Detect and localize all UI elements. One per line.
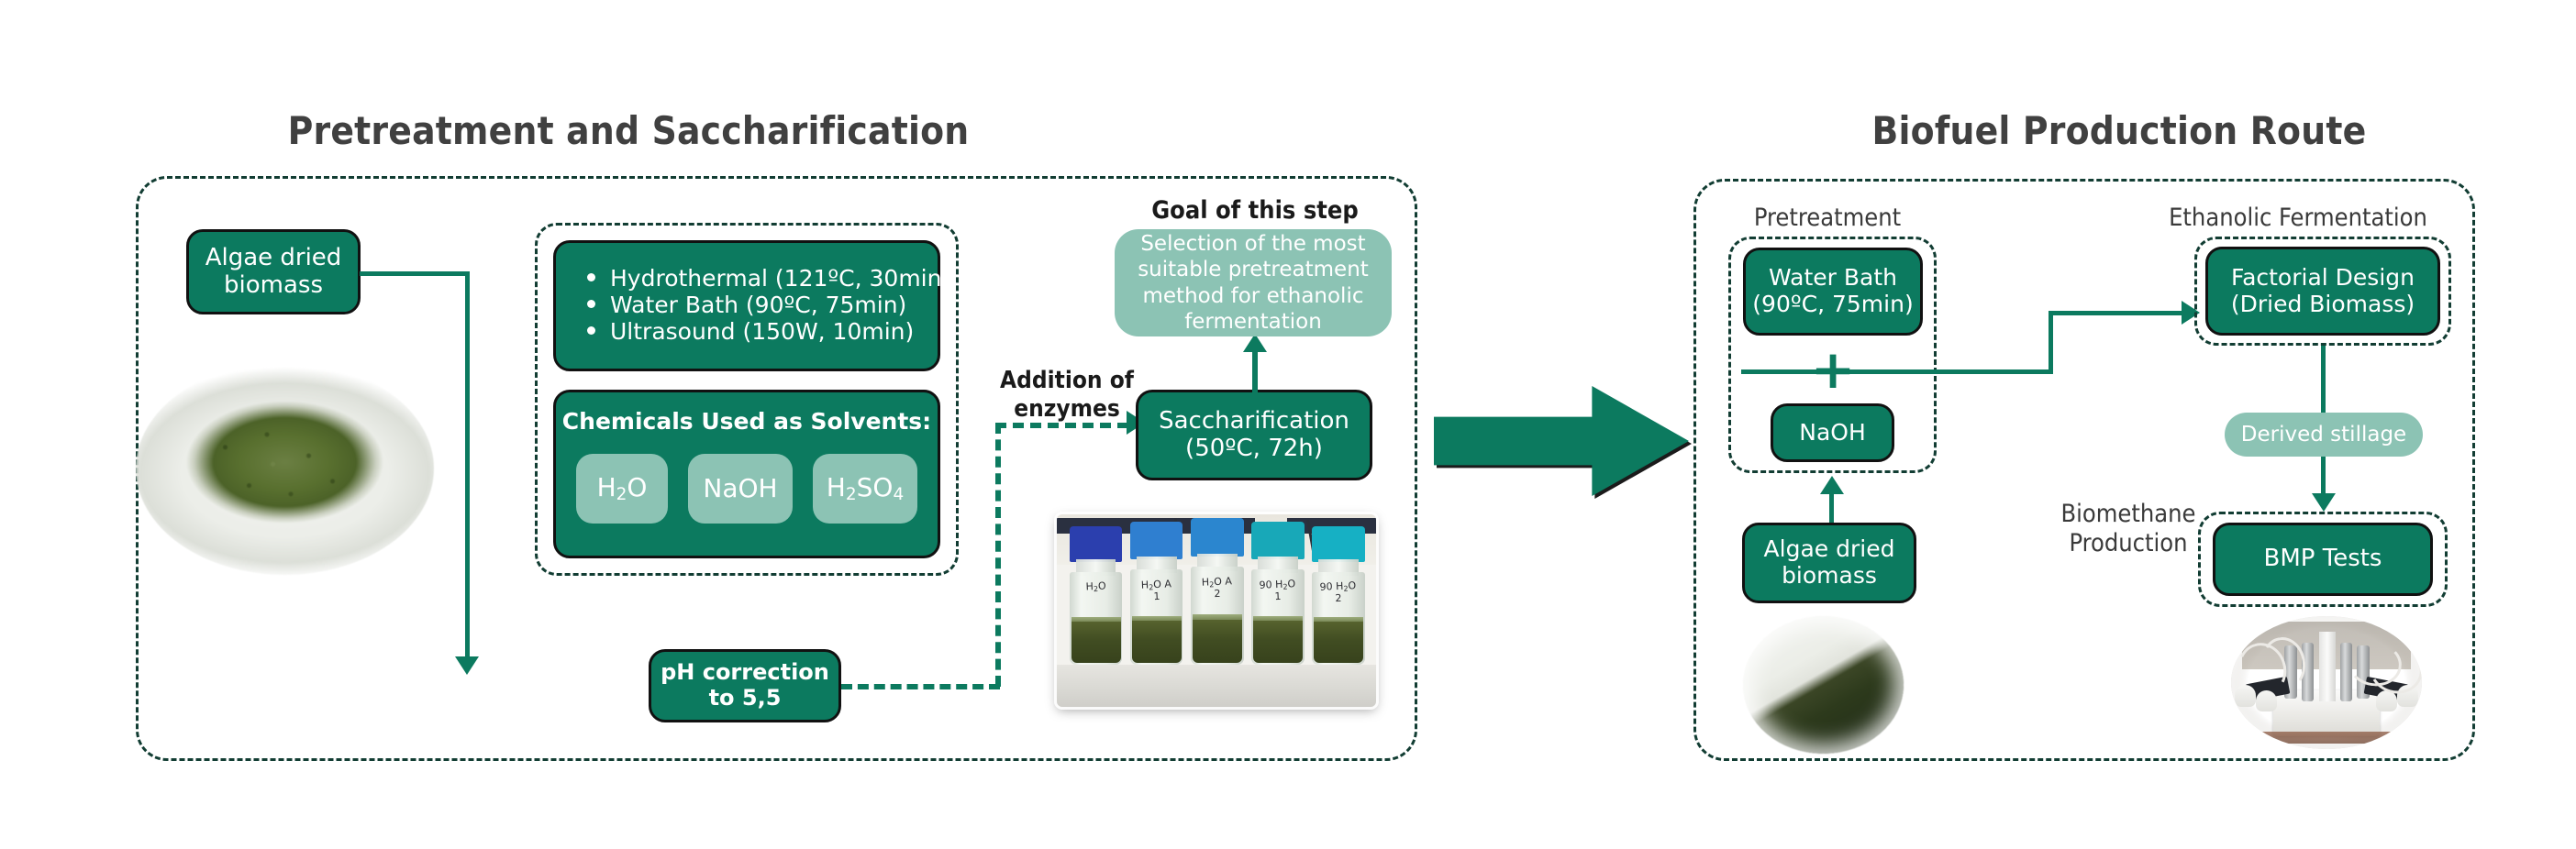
ph-to-saccharification-dashed-horizontal: [841, 684, 1000, 689]
algae-biomass-label-line1: Algae dried: [205, 244, 342, 271]
bottle-handwritten-label: H2O A1: [1130, 578, 1183, 602]
stillage-to-bmp-arrowhead: [2312, 493, 2336, 512]
saccharification-to-goal-arrowhead: [1243, 334, 1267, 352]
pretreatment-to-fermentation-vertical: [2049, 311, 2053, 374]
ph-correction-line2: to 5,5: [709, 685, 782, 711]
solvent-pill-naoh[interactable]: NaOH: [688, 454, 793, 524]
bmp-tests-box[interactable]: BMP Tests: [2213, 523, 2433, 596]
left-panel-title: Pretreatment and Saccharification: [275, 108, 982, 153]
enzymes-label-line1: Addition of: [1000, 367, 1134, 394]
bottle-liquid: [1132, 621, 1182, 663]
pretreatment-method-label: Hydrothermal (121ºC, 30min): [610, 266, 950, 292]
right-biomass-line1: Algae dried: [1764, 535, 1895, 562]
solvent-label: H2O: [597, 473, 648, 504]
solvent-pill-h2so4[interactable]: H2SO4: [813, 454, 917, 524]
bottle-liquid-surface: [1253, 616, 1303, 621]
naoh-box[interactable]: NaOH: [1771, 403, 1894, 462]
bmp-collection-jar: [2376, 690, 2397, 711]
bottle-handwritten-label: H2O: [1070, 580, 1123, 595]
bottle-handwritten-label: 90 H2O1: [1251, 578, 1305, 602]
saccharification-line1: Saccharification: [1159, 407, 1349, 435]
bottle-cap: [1312, 526, 1364, 562]
biomethane-line1: Biomethane: [2060, 500, 2195, 528]
bullet-icon: [587, 273, 595, 281]
ph-to-saccharification-dashed-vertical: [995, 423, 1001, 687]
factorial-design-box[interactable]: Factorial Design (Dried Biomass): [2205, 247, 2440, 336]
right-panel-title: Biofuel Production Route: [1789, 108, 2449, 153]
pretreatment-to-fermentation-lower-horizontal: [1741, 369, 1915, 374]
solvent-label: H2SO4: [827, 473, 904, 504]
ph-correction-line1: pH correction: [661, 659, 829, 685]
bottle-liquid: [1253, 621, 1303, 663]
bmp-center-stand: [2319, 632, 2337, 700]
bottle-cap: [1191, 518, 1243, 556]
bottle-liquid: [1071, 622, 1121, 663]
enzymes-label-line2: enzymes: [1014, 395, 1120, 423]
pretreatment-method-row: Hydrothermal (121ºC, 30min): [587, 266, 950, 292]
solvent-pill-h2o[interactable]: H2O: [576, 454, 668, 524]
biomass-to-naoh-arrowhead: [1820, 476, 1844, 494]
pretreatment-method-label: Ultrasound (150W, 10min): [610, 319, 914, 346]
water-bath-line2: (90ºC, 75min): [1752, 291, 1913, 317]
bullet-icon: [587, 300, 595, 308]
bottle-liquid: [1314, 622, 1363, 663]
bottle-cap: [1070, 526, 1122, 562]
algae-biomass-label-line2: biomass: [224, 271, 323, 299]
bottle-cap: [1130, 522, 1183, 558]
right-biomass-line2: biomass: [1782, 562, 1877, 589]
bottle-liquid: [1193, 620, 1242, 663]
goal-text: Selection of the most suitable pretreatm…: [1131, 231, 1375, 334]
right-pretreatment-heading: Pretreatment: [1717, 204, 1938, 233]
bullet-icon: [587, 326, 595, 335]
derived-stillage-label: Derived stillage: [2241, 422, 2406, 447]
bottle-liquid-surface: [1314, 617, 1363, 622]
ph-correction-box[interactable]: pH correction to 5,5: [649, 649, 841, 722]
bottle-cap: [1251, 522, 1304, 558]
solvent-label: NaOH: [703, 474, 777, 503]
bottle-5: 90 H2O2: [1312, 526, 1364, 665]
naoh-algae-mixture-photo: [1743, 616, 1904, 754]
bmp-tests-label: BMP Tests: [2264, 546, 2382, 573]
bottle-3: H2O A2: [1191, 518, 1243, 665]
bottle-1: H2O: [1070, 526, 1122, 665]
bottle-2: H2O A1: [1130, 522, 1183, 664]
transition-arrow: [1434, 386, 1689, 496]
saccharification-to-goal-line: [1252, 349, 1258, 393]
water-bath-line1: Water Bath: [1769, 264, 1897, 291]
bottle-liquid-surface: [1071, 617, 1121, 622]
factorial-line2: (Dried Biomass): [2231, 291, 2415, 317]
reagent-bottles-photo: H2O H2O A1 H2O A2 90 H2O1: [1057, 514, 1376, 707]
goal-pill: Selection of the most suitable pretreatm…: [1115, 229, 1392, 336]
bottle-4: 90 H2O1: [1251, 522, 1304, 664]
bottle-liquid-surface: [1132, 616, 1182, 621]
bottle-handwritten-label: H2O A2: [1191, 576, 1244, 601]
pretreatment-method-row: Ultrasound (150W, 10min): [587, 319, 914, 346]
connector-biomass-vertical: [465, 271, 470, 660]
solvents-box[interactable]: Chemicals Used as Solvents: H2O NaOH H2S…: [553, 390, 940, 558]
connector-biomass-horizontal: [360, 271, 470, 276]
algae-dried-biomass-box[interactable]: Algae dried biomass: [186, 229, 361, 314]
bottle-liquid-surface: [1193, 614, 1242, 619]
pretreatment-method-row: Water Bath (90ºC, 75min): [587, 292, 906, 319]
solvents-heading: Chemicals Used as Solvents:: [562, 409, 931, 436]
bmp-bench-surface: [2254, 732, 2399, 744]
naoh-label: NaOH: [1799, 420, 1866, 447]
algae-powder-photo: [136, 362, 434, 575]
water-bath-box[interactable]: Water Bath (90ºC, 75min): [1743, 248, 1923, 336]
ethanolic-fermentation-heading: Ethanolic Fermentation: [2147, 204, 2449, 233]
connector-biomass-arrowhead: [455, 656, 479, 675]
right-algae-biomass-box[interactable]: Algae dried biomass: [1742, 523, 1916, 603]
bottle-handwritten-label: 90 H2O2: [1312, 580, 1365, 605]
goal-heading: Goal of this step: [1117, 196, 1393, 226]
factorial-line1: Factorial Design: [2231, 264, 2415, 291]
pretreatment-to-fermentation-lower-horizontal-2: [1912, 369, 2053, 374]
pretreatment-to-fermentation-upper-horizontal: [2049, 311, 2184, 315]
pretreatment-method-label: Water Bath (90ºC, 75min): [610, 292, 906, 319]
photo-bench-surface: [1057, 665, 1376, 707]
bmp-equipment-photo: [2231, 616, 2422, 749]
biomethane-line2: Production: [2069, 529, 2187, 557]
addition-of-enzymes-label: Addition of enzymes: [980, 367, 1154, 424]
stillage-to-bmp-line: [2321, 457, 2326, 497]
saccharification-line2: (50ºC, 72h): [1185, 435, 1323, 462]
saccharification-box[interactable]: Saccharification (50ºC, 72h): [1136, 390, 1372, 480]
pretreatment-methods-box[interactable]: Hydrothermal (121ºC, 30min) Water Bath (…: [553, 240, 940, 371]
factorial-to-stillage-line: [2321, 346, 2326, 413]
derived-stillage-pill: Derived stillage: [2225, 413, 2423, 457]
